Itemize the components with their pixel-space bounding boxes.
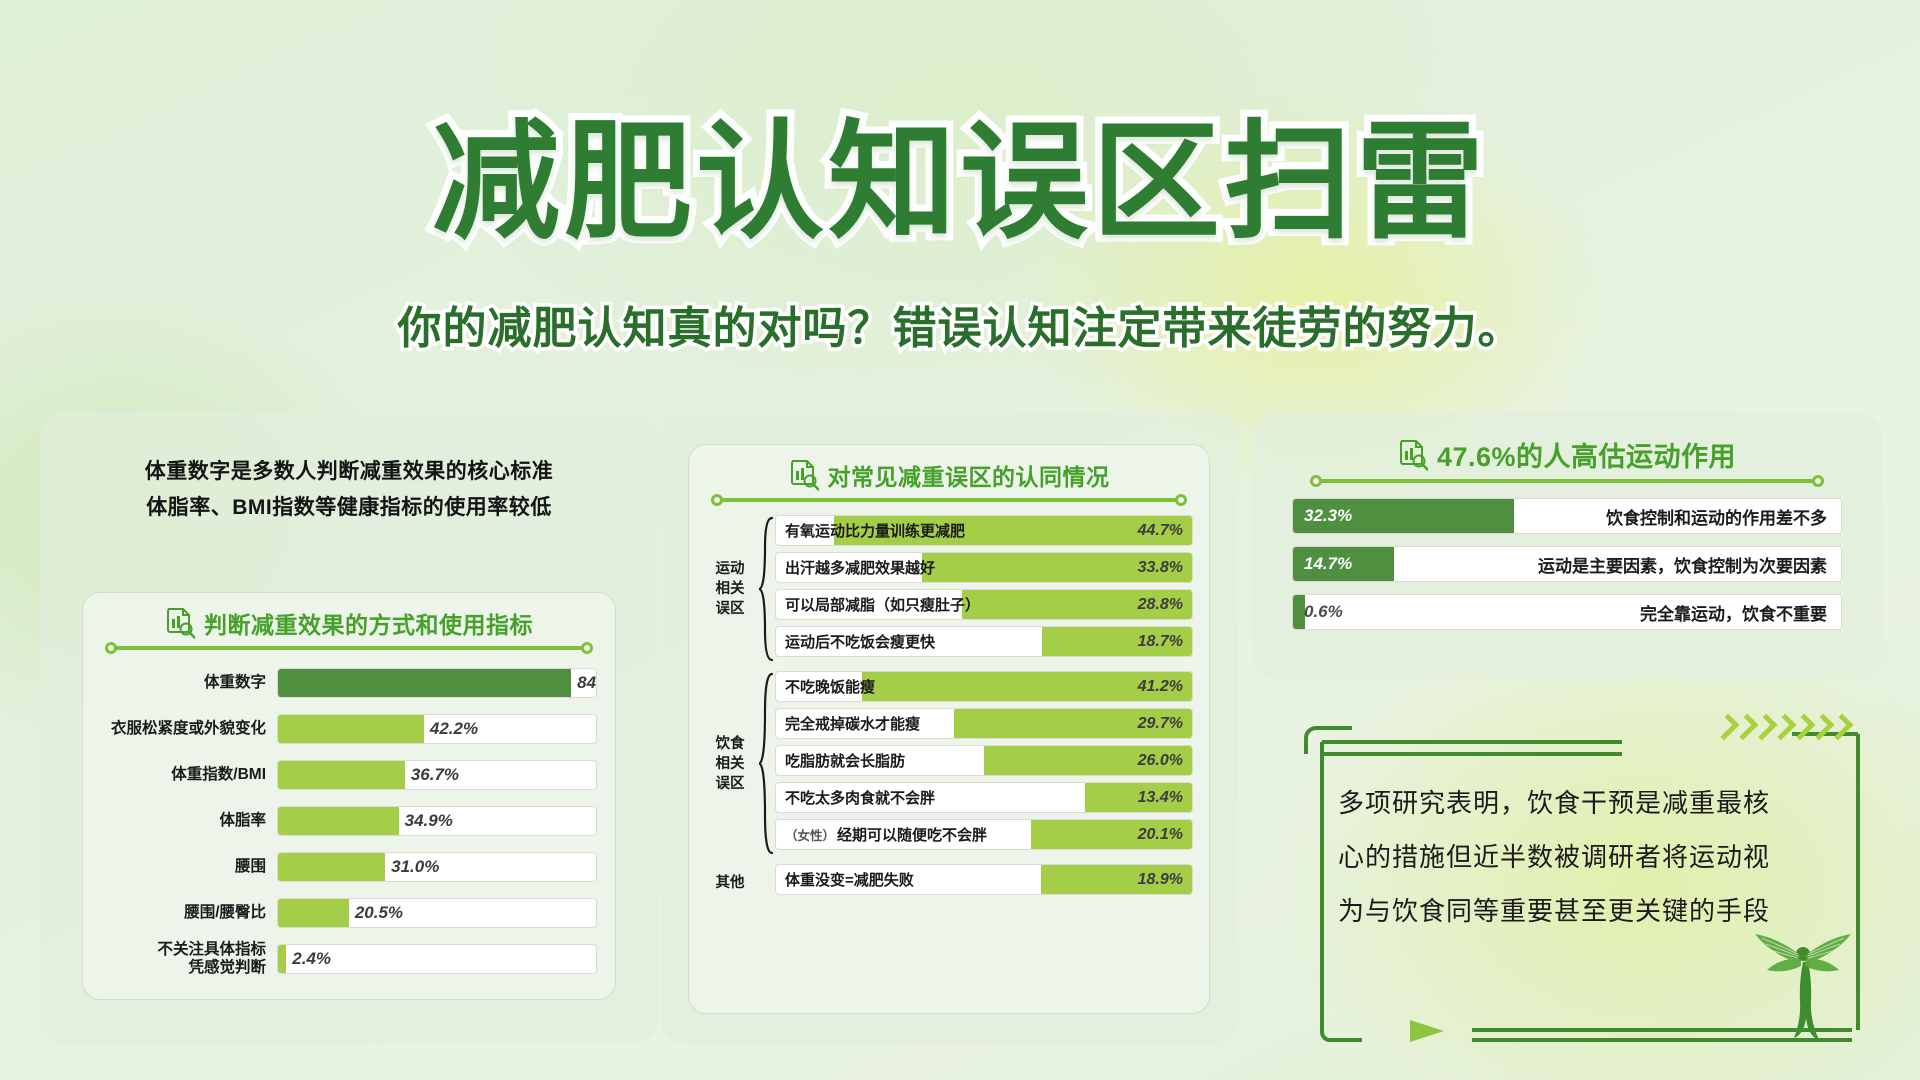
conclusion-note: 多项研究表明，饮食干预是减重最核 心的措施但近半数被调研者将运动视 为与饮食同等…: [1292, 714, 1888, 1050]
left-bar-fill: [278, 669, 571, 697]
left-bar-track: 84.8%: [277, 668, 597, 698]
left-bar-row: 体重数字84.8%: [83, 665, 615, 701]
middle-bar-label: 吃脂肪就会长脂肪: [785, 746, 905, 775]
title-rule: [1310, 475, 1824, 487]
left-bar-value: 36.7%: [405, 761, 459, 789]
middle-bar-label: 可以局部减脂（如只瘦肚子）: [785, 590, 980, 619]
left-bar-track: 20.5%: [277, 898, 597, 928]
middle-bar-label: 完全戒掉碳水才能瘦: [785, 709, 920, 738]
curly-brace-icon: [757, 864, 775, 901]
middle-group-list: 运动相关误区有氧运动比力量训练更减肥44.7%出汗越多减肥效果越好33.8%可以…: [689, 511, 1209, 901]
middle-bar-value: 29.7%: [1138, 709, 1183, 738]
left-bar-label: 不关注具体指标凭感觉判断: [83, 941, 277, 977]
left-bar-label: 腰围/腰臀比: [83, 904, 277, 922]
top-right-bar-row: 0.6%完全靠运动，饮食不重要: [1292, 594, 1842, 630]
left-bar-label: 体重数字: [83, 674, 277, 692]
note-line-2: 心的措施但近半数被调研者将运动视: [1338, 830, 1850, 884]
header: 减肥认知误区扫雷 你的减肥认知真的对吗？错误认知注定带来徒劳的努力。: [0, 0, 1920, 380]
left-bar-fill: [278, 945, 286, 973]
middle-chart-card: 对常见减重误区的认同情况 运动相关误区有氧运动比力量训练更减肥44.7%出汗越多…: [688, 444, 1210, 1014]
middle-row-list: 有氧运动比力量训练更减肥44.7%出汗越多减肥效果越好33.8%可以局部减脂（如…: [775, 515, 1193, 663]
middle-bar-value: 13.4%: [1138, 783, 1183, 812]
left-bar-list: 体重数字84.8%衣服松紧度或外貌变化42.2%体重指数/BMI36.7%体脂率…: [83, 659, 615, 977]
middle-bar-value: 20.1%: [1138, 820, 1183, 849]
left-bar-track: 31.0%: [277, 852, 597, 882]
left-bar-label: 体脂率: [83, 812, 277, 830]
page-subtitle: 你的减肥认知真的对吗？错误认知注定带来徒劳的努力。: [0, 292, 1920, 356]
middle-group: 其他体重没变=减肥失败18.9%: [703, 864, 1193, 901]
left-bar-row: 衣服松紧度或外貌变化42.2%: [83, 711, 615, 747]
middle-bar-label: （女性）经期可以随便吃不会胖: [785, 820, 987, 849]
page-title: 减肥认知误区扫雷: [0, 78, 1920, 263]
middle-bar-row: 运动后不吃饭会瘦更快18.7%: [775, 626, 1193, 657]
middle-bar-label: 运动后不吃饭会瘦更快: [785, 627, 935, 656]
left-bar-fill: [278, 761, 405, 789]
middle-group: 饮食相关误区不吃晚饭能瘦41.2%完全戒掉碳水才能瘦29.7%吃脂肪就会长脂肪2…: [703, 671, 1193, 856]
left-chart-title: 判断减重效果的方式和使用指标: [204, 606, 533, 640]
document-chart-search-icon: [1398, 439, 1428, 471]
middle-group-label: 其他: [703, 864, 757, 901]
title-rule: [105, 642, 593, 654]
left-bar-track: 36.7%: [277, 760, 597, 790]
middle-group: 运动相关误区有氧运动比力量训练更减肥44.7%出汗越多减肥效果越好33.8%可以…: [703, 515, 1193, 663]
middle-bar-row: 体重没变=减肥失败18.9%: [775, 864, 1193, 895]
middle-bar-row: 可以局部减脂（如只瘦肚子）28.8%: [775, 589, 1193, 620]
top-right-bar-list: 32.3%饮食控制和运动的作用差不多14.7%运动是主要因素，饮食控制为次要因素…: [1252, 492, 1882, 630]
middle-bar-value: 26.0%: [1138, 746, 1183, 775]
note-line-1: 多项研究表明，饮食干预是减重最核: [1338, 776, 1850, 830]
left-bar-value: 20.5%: [349, 899, 403, 927]
top-right-panel: 47.6%的人高估运动作用 32.3%饮食控制和运动的作用差不多14.7%运动是…: [1252, 412, 1882, 680]
left-bar-value: 2.4%: [286, 945, 331, 973]
left-bar-value: 84.8%: [571, 669, 597, 697]
top-right-bar-row: 32.3%饮食控制和运动的作用差不多: [1292, 498, 1842, 534]
left-bar-label: 体重指数/BMI: [83, 766, 277, 784]
middle-bar-label: 不吃太多肉食就不会胖: [785, 783, 935, 812]
top-right-bar-value: 0.6%: [1304, 595, 1343, 629]
middle-group-label: 饮食相关误区: [703, 671, 757, 856]
middle-bar-row: 不吃太多肉食就不会胖13.4%: [775, 782, 1193, 813]
top-right-bar-value: 14.7%: [1304, 547, 1352, 581]
middle-bar-label: 不吃晚饭能瘦: [785, 672, 875, 701]
fairy-icon: [1748, 896, 1858, 1046]
middle-bar-row: 不吃晚饭能瘦41.2%: [775, 671, 1193, 702]
middle-bar-label: 出汗越多减肥效果越好: [785, 553, 935, 582]
arrow-right-icon: [1410, 1020, 1444, 1042]
left-chart-header: 判断减重效果的方式和使用指标: [83, 593, 615, 659]
curly-brace-icon: [757, 515, 775, 663]
left-bar-value: 34.9%: [399, 807, 453, 835]
document-chart-search-icon: [165, 607, 195, 639]
left-bar-row: 腰围31.0%: [83, 849, 615, 885]
left-bar-label: 衣服松紧度或外貌变化: [83, 720, 277, 738]
title-rule: [711, 494, 1187, 506]
middle-bar-row: 有氧运动比力量训练更减肥44.7%: [775, 515, 1193, 546]
left-bar-track: 2.4%: [277, 944, 597, 974]
left-bar-row: 体脂率34.9%: [83, 803, 615, 839]
middle-bar-row: 出汗越多减肥效果越好33.8%: [775, 552, 1193, 583]
middle-bar-value: 41.2%: [1138, 672, 1183, 701]
middle-bar-row: 吃脂肪就会长脂肪26.0%: [775, 745, 1193, 776]
left-bar-fill: [278, 807, 399, 835]
top-right-header: 47.6%的人高估运动作用: [1288, 422, 1846, 492]
left-panel-intro: 体重数字是多数人判断减重效果的核心标准 体脂率、BMI指数等健康指标的使用率较低: [40, 454, 658, 526]
middle-bar-value: 28.8%: [1138, 590, 1183, 619]
intro-line-1: 体重数字是多数人判断减重效果的核心标准: [40, 454, 658, 490]
left-panel: 体重数字是多数人判断减重效果的核心标准 体脂率、BMI指数等健康指标的使用率较低…: [40, 412, 658, 1044]
top-right-bar-row: 14.7%运动是主要因素，饮食控制为次要因素: [1292, 546, 1842, 582]
middle-chart-title: 对常见减重误区的认同情况: [828, 458, 1110, 492]
middle-bar-row: 完全戒掉碳水才能瘦29.7%: [775, 708, 1193, 739]
middle-bar-label: 有氧运动比力量训练更减肥: [785, 516, 965, 545]
middle-bar-value: 44.7%: [1138, 516, 1183, 545]
middle-panel: 对常见减重误区的认同情况 运动相关误区有氧运动比力量训练更减肥44.7%出汗越多…: [660, 412, 1238, 1044]
document-chart-search-icon: [789, 459, 819, 491]
top-right-bar-label: 饮食控制和运动的作用差不多: [1606, 499, 1827, 533]
left-bar-fill: [278, 853, 385, 881]
top-right-title: 47.6%的人高估运动作用: [1437, 435, 1736, 474]
left-bar-fill: [278, 899, 349, 927]
top-right-bar-label: 运动是主要因素，饮食控制为次要因素: [1538, 547, 1827, 581]
top-right-bar-label: 完全靠运动，饮食不重要: [1640, 595, 1827, 629]
middle-bar-value: 18.9%: [1138, 865, 1183, 894]
left-bar-row: 体重指数/BMI36.7%: [83, 757, 615, 793]
middle-bar-row: （女性）经期可以随便吃不会胖20.1%: [775, 819, 1193, 850]
left-bar-value: 42.2%: [424, 715, 478, 743]
left-bar-label: 腰围: [83, 858, 277, 876]
left-bar-value: 31.0%: [385, 853, 439, 881]
left-bar-track: 42.2%: [277, 714, 597, 744]
left-bar-row: 不关注具体指标凭感觉判断2.4%: [83, 941, 615, 977]
left-bar-row: 腰围/腰臀比20.5%: [83, 895, 615, 931]
intro-line-2: 体脂率、BMI指数等健康指标的使用率较低: [40, 490, 658, 526]
left-bar-fill: [278, 715, 424, 743]
middle-bar-value: 33.8%: [1138, 553, 1183, 582]
top-right-bar-value: 32.3%: [1304, 499, 1352, 533]
middle-row-list: 体重没变=减肥失败18.9%: [775, 864, 1193, 901]
left-chart-card: 判断减重效果的方式和使用指标 体重数字84.8%衣服松紧度或外貌变化42.2%体…: [82, 592, 616, 1000]
middle-bar-value: 18.7%: [1138, 627, 1183, 656]
middle-group-label: 运动相关误区: [703, 515, 757, 663]
middle-chart-header: 对常见减重误区的认同情况: [689, 445, 1209, 511]
middle-bar-label: 体重没变=减肥失败: [785, 865, 914, 894]
chevron-right-icon-group: [1718, 716, 1848, 738]
curly-brace-icon: [757, 671, 775, 856]
middle-row-list: 不吃晚饭能瘦41.2%完全戒掉碳水才能瘦29.7%吃脂肪就会长脂肪26.0%不吃…: [775, 671, 1193, 856]
left-bar-track: 34.9%: [277, 806, 597, 836]
